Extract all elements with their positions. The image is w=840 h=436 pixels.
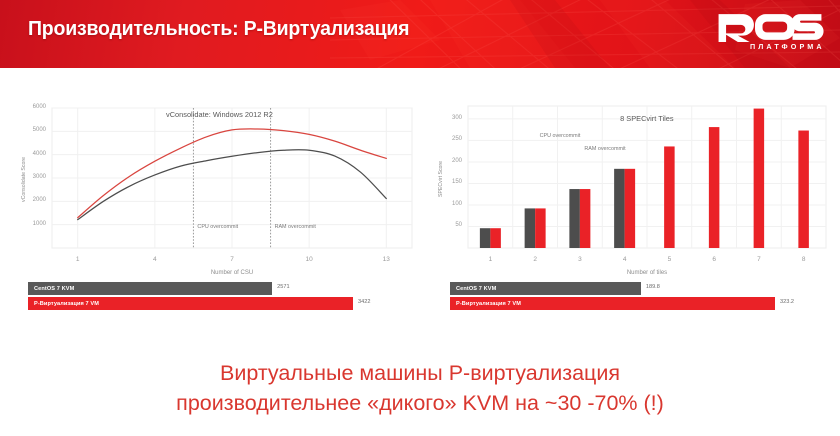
specvirt-ytick: 100 [434, 201, 462, 207]
vconsolidate-annotation: CPU overcommit [197, 224, 238, 230]
summary-bar-centos: CentOS 7 KVM [28, 282, 272, 295]
specvirt-ytick: 300 [434, 115, 462, 121]
summary-bar-label: CentOS 7 KVM [28, 286, 74, 292]
specvirt-title: 8 SPECvirt Tiles [620, 114, 673, 123]
chart-specvirt: 8 SPECvirt Tiles SPECvirt Score Number o… [432, 96, 832, 286]
specvirt-xtick: 6 [700, 256, 728, 263]
summary-row: CentOS 7 KVM 2571 [28, 282, 408, 295]
vconsolidate-xlabel: Number of CSU [52, 270, 412, 276]
summary-bar-value: 2571 [277, 284, 289, 290]
specvirt-xlabel: Number of tiles [468, 270, 826, 276]
specvirt-xtick: 5 [655, 256, 683, 263]
footer-line-2: производительнее «дикого» KVM на ~30 -70… [0, 388, 840, 418]
footer-conclusion: Виртуальные машины Р-виртуализация произ… [0, 358, 840, 418]
vconsolidate-xtick: 10 [295, 256, 323, 263]
vconsolidate-ytick: 4000 [18, 151, 46, 157]
ros-logo: ПЛАТФОРМА [716, 12, 824, 56]
vconsolidate-xtick: 13 [372, 256, 400, 263]
summary-bar-value: 323.2 [780, 299, 794, 305]
specvirt-xtick: 1 [476, 256, 504, 263]
vconsolidate-ytick: 5000 [18, 127, 46, 133]
ros-logo-subtitle: ПЛАТФОРМА [750, 42, 825, 51]
specvirt-xtick: 7 [745, 256, 773, 263]
summary-bar-rvirt: Р-Виртуализация 7 VM [450, 297, 775, 310]
specvirt-xtick: 2 [521, 256, 549, 263]
summary-bars-specvirt: CentOS 7 KVM 189.8 Р-Виртуализация 7 VM … [450, 282, 830, 312]
chart-vconsolidate: vConsolidate: Windows 2012 R2 vConsolida… [12, 96, 418, 286]
summary-bar-label: Р-Виртуализация 7 VM [450, 301, 521, 307]
vconsolidate-xtick: 1 [64, 256, 92, 263]
vconsolidate-ytick: 1000 [18, 221, 46, 227]
summary-bar-value: 189.8 [646, 284, 660, 290]
summary-bar-label: CentOS 7 KVM [450, 286, 496, 292]
vconsolidate-ytick: 3000 [18, 174, 46, 180]
vconsolidate-xtick: 7 [218, 256, 246, 263]
vconsolidate-plot-area: vConsolidate: Windows 2012 R2 vConsolida… [12, 96, 418, 286]
summary-row: CentOS 7 KVM 189.8 [450, 282, 830, 295]
vconsolidate-xtick: 4 [141, 256, 169, 263]
ros-logo-icon [716, 12, 824, 42]
slide-root: Производительность: Р-Виртуализация ПЛАТ… [0, 0, 840, 436]
specvirt-ytick: 250 [434, 136, 462, 142]
summary-bar-rvirt: Р-Виртуализация 7 VM [28, 297, 353, 310]
summary-bars-vconsolidate: CentOS 7 KVM 2571 Р-Виртуализация 7 VM 3… [28, 282, 408, 312]
summary-bar-value: 3422 [358, 299, 370, 305]
specvirt-annotation: RAM overcommit [584, 146, 625, 152]
vconsolidate-title: vConsolidate: Windows 2012 R2 [166, 110, 273, 119]
vconsolidate-annotation: RAM overcommit [275, 224, 316, 230]
specvirt-xtick: 3 [566, 256, 594, 263]
summary-bar-centos: CentOS 7 KVM [450, 282, 641, 295]
footer-line-1: Виртуальные машины Р-виртуализация [0, 358, 840, 388]
summary-row: Р-Виртуализация 7 VM 323.2 [450, 297, 830, 310]
specvirt-ytick: 200 [434, 158, 462, 164]
specvirt-plot-area: 8 SPECvirt Tiles SPECvirt Score Number o… [432, 96, 832, 286]
slide-header: Производительность: Р-Виртуализация ПЛАТ… [0, 0, 840, 68]
specvirt-annotation: CPU overcommit [540, 133, 581, 139]
summary-bar-label: Р-Виртуализация 7 VM [28, 301, 99, 307]
page-title: Производительность: Р-Виртуализация [28, 17, 409, 41]
specvirt-ytick: 150 [434, 179, 462, 185]
specvirt-ytick: 50 [434, 222, 462, 228]
summary-row: Р-Виртуализация 7 VM 3422 [28, 297, 408, 310]
vconsolidate-ytick: 2000 [18, 197, 46, 203]
specvirt-xtick: 8 [790, 256, 818, 263]
specvirt-xtick: 4 [611, 256, 639, 263]
vconsolidate-ytick: 6000 [18, 104, 46, 110]
